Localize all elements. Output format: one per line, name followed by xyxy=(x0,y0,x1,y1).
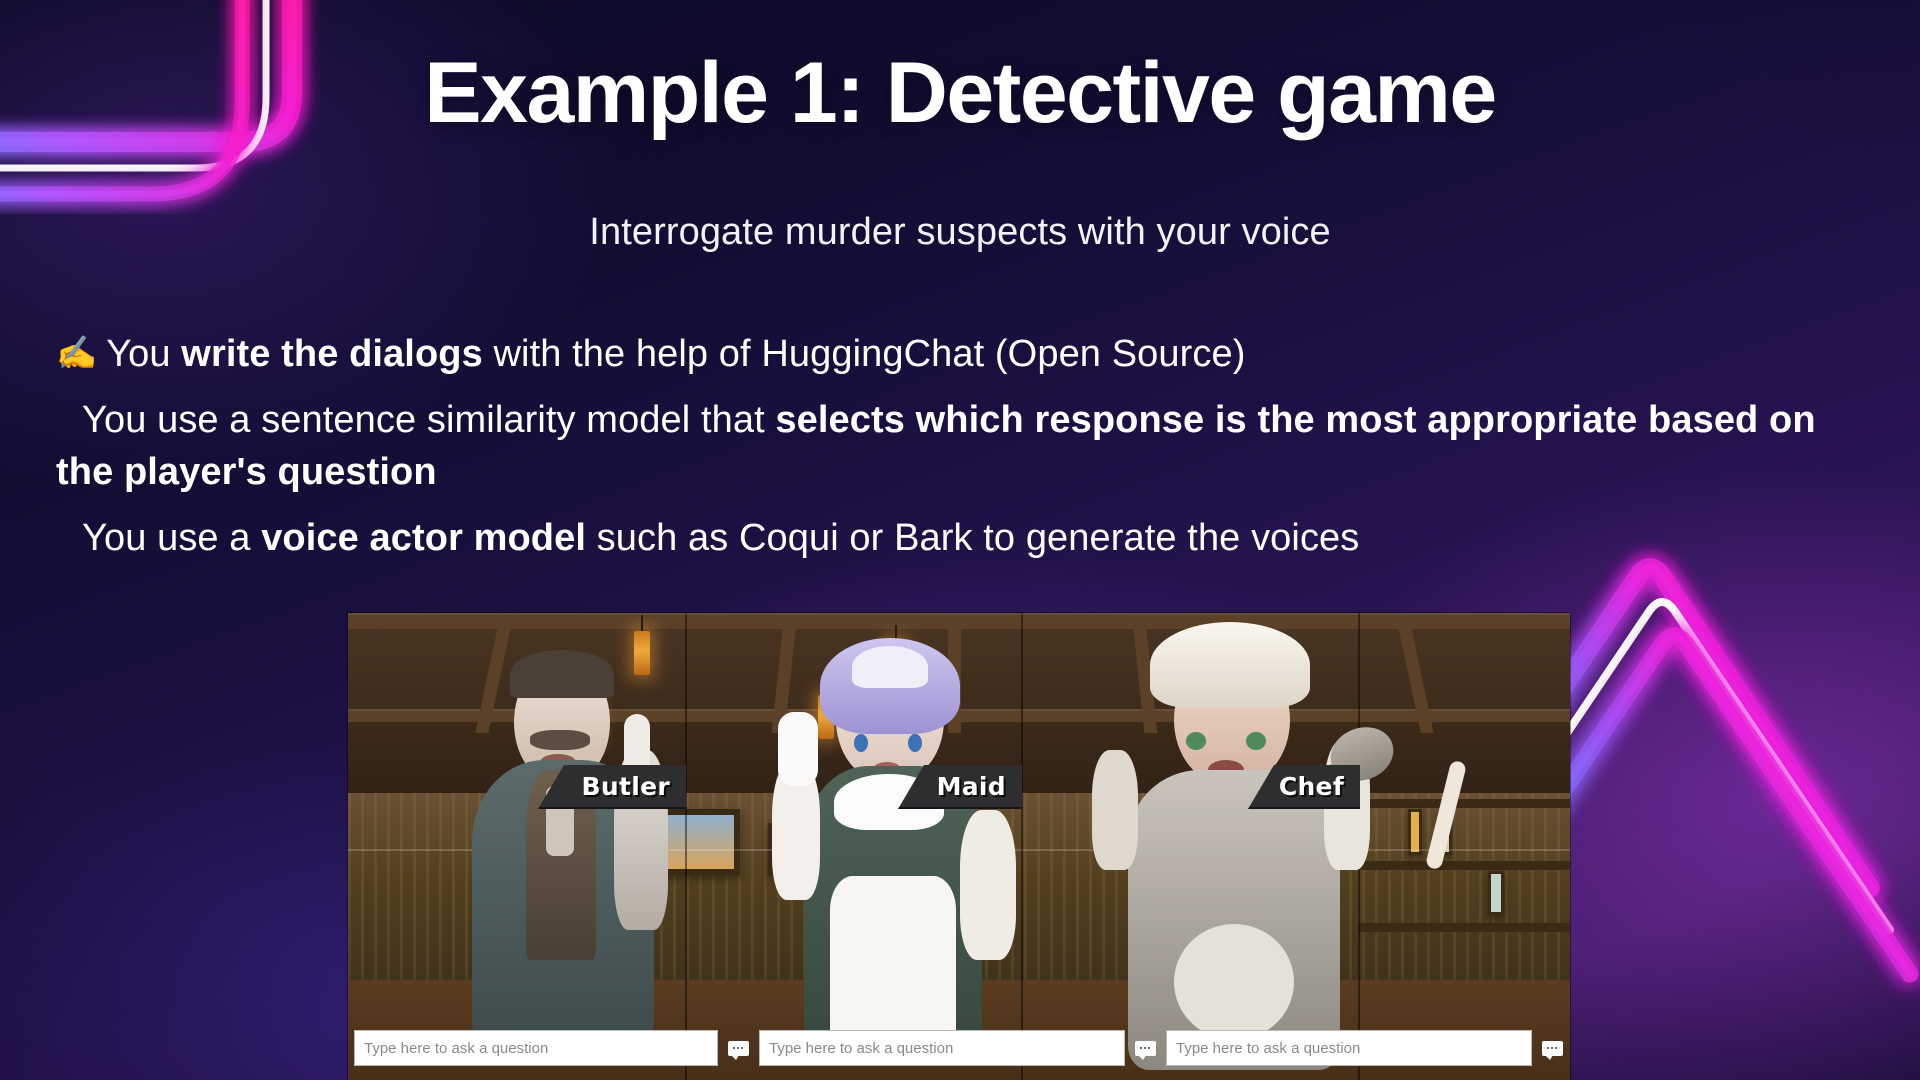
bullet-1-text-b: write the dialogs xyxy=(181,333,483,375)
send-button-chef[interactable] xyxy=(1539,1033,1565,1063)
bullet-3-text-c: such as Coqui or Bark to generate the vo… xyxy=(586,517,1359,559)
send-button-butler[interactable] xyxy=(725,1033,751,1063)
shelf-item xyxy=(1488,871,1504,915)
character-chef xyxy=(1078,630,1398,1080)
bullet-item-3: You use a voice actor model such as Coqu… xyxy=(56,512,1864,564)
question-cell-maid: Type here to ask a question xyxy=(755,1030,1162,1066)
speech-bubble-icon xyxy=(728,1041,749,1056)
question-cell-butler: Type here to ask a question xyxy=(348,1030,755,1066)
bubble-dot xyxy=(733,1047,735,1049)
question-input-chef[interactable]: Type here to ask a question xyxy=(1166,1030,1532,1066)
bubble-dot xyxy=(1555,1047,1557,1049)
question-input-butler[interactable]: Type here to ask a question xyxy=(354,1030,718,1066)
bubble-dot xyxy=(1547,1047,1549,1049)
bullet-1-text-a: You xyxy=(106,333,181,375)
bubble-dot xyxy=(1144,1047,1146,1049)
character-butler xyxy=(418,650,708,1080)
character-maid xyxy=(748,640,1048,1080)
bubble-dot xyxy=(1551,1047,1553,1049)
writing-hand-icon: ✍ xyxy=(56,330,97,375)
speech-bubble-icon xyxy=(1135,1041,1156,1056)
page-title: Example 1: Detective game xyxy=(0,48,1920,138)
character-name-chef: Chef xyxy=(1279,772,1344,801)
question-input-row: Type here to ask a question Type here to… xyxy=(348,1030,1570,1066)
game-screenshot-panel: Butler Maid Chef Type here to ask a ques… xyxy=(348,613,1570,1080)
bullet-1-text-c: with the help of HuggingChat (Open Sourc… xyxy=(483,333,1246,375)
page-subtitle: Interrogate murder suspects with your vo… xyxy=(0,211,1920,254)
character-name-banner-butler: Butler xyxy=(538,765,686,809)
question-input-maid[interactable]: Type here to ask a question xyxy=(759,1030,1125,1066)
bullet-3-text-a: You use a xyxy=(82,517,261,559)
send-button-maid[interactable] xyxy=(1132,1033,1158,1063)
question-cell-chef: Type here to ask a question xyxy=(1162,1030,1569,1066)
bullet-3-text-b: voice actor model xyxy=(261,517,586,559)
character-name-butler: Butler xyxy=(582,772,670,801)
bubble-dot xyxy=(1140,1047,1142,1049)
speech-bubble-icon xyxy=(1542,1041,1563,1056)
bubble-dot xyxy=(737,1047,739,1049)
bubble-dot xyxy=(1148,1047,1150,1049)
bullet-2-text-a: You use a sentence similarity model that xyxy=(82,399,775,441)
bullet-item-1: ✍You write the dialogs with the help of … xyxy=(56,328,1864,380)
bubble-dot xyxy=(741,1047,743,1049)
bullet-item-2: You use a sentence similarity model that… xyxy=(56,394,1864,498)
character-name-maid: Maid xyxy=(937,772,1006,801)
bullet-list: ✍You write the dialogs with the help of … xyxy=(56,328,1864,578)
